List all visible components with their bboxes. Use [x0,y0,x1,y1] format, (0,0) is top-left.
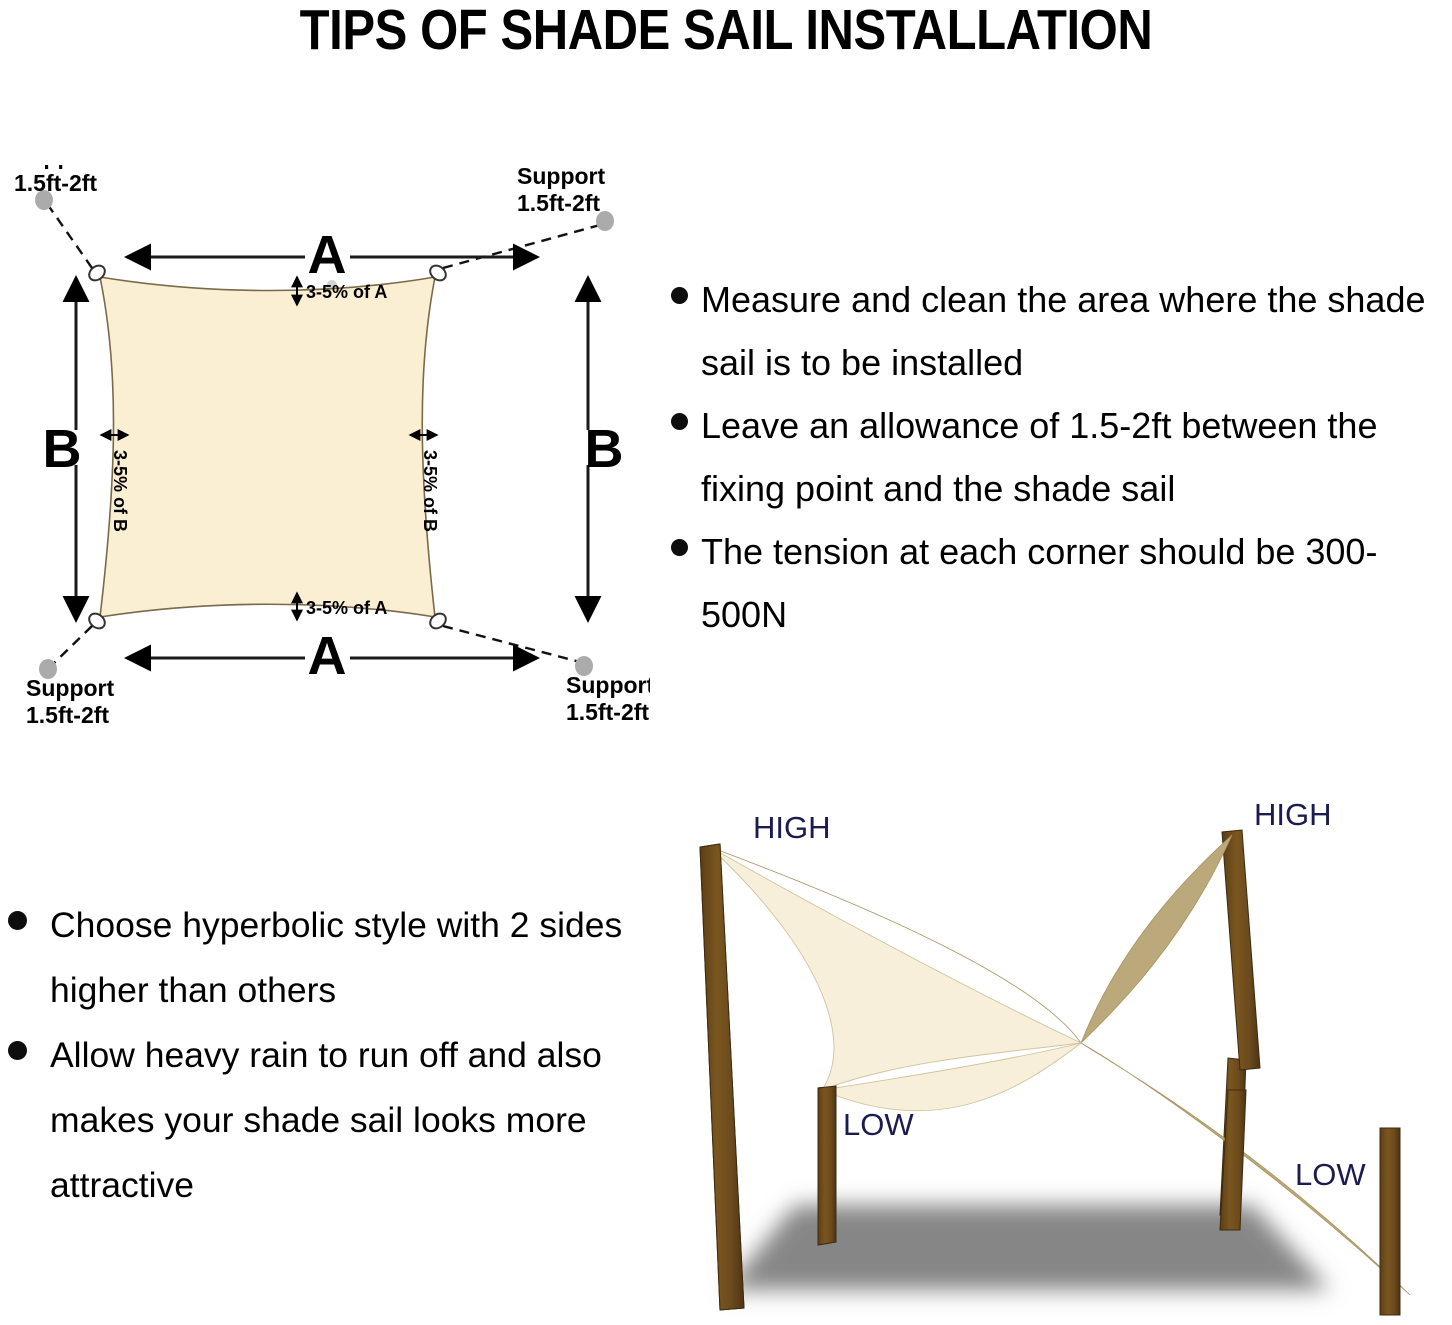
support-label-top-right-line1: Support [517,165,605,189]
support-label-bottom-left-line2: 1.5ft-2ft [26,702,109,725]
curve-note-top: 3-5% of A [306,282,387,302]
rectangular-sail-dimension-diagram: A A B B 3-5% of A 3-5% of A 3-5% of B 3-… [0,165,650,725]
hyperbolic-sail-illustration: HIGH HIGH LOW LOW [640,790,1452,1325]
tips-list-left: Choose hyperbolic style with 2 sides hig… [2,893,642,1218]
support-label-top-left-line1: Support [14,165,102,169]
support-label-top-right-line2: 1.5ft-2ft [517,190,600,216]
dimension-label-A-bottom: A [308,626,347,686]
label-high-left: HIGH [753,810,831,845]
label-high-right: HIGH [1254,797,1332,832]
tips-list-right: Measure and clean the area where the sha… [657,268,1452,646]
sail-shape [100,277,435,617]
curve-note-right: 3-5% of B [420,450,440,532]
support-label-bottom-right-line2: 1.5ft-2ft [566,699,649,725]
list-item: Leave an allowance of 1.5-2ft between th… [657,394,1452,520]
curve-note-left: 3-5% of B [110,450,130,532]
dimension-label-B-right: B [585,419,624,479]
page-title: TIPS OF SHADE SAIL INSTALLATION [102,0,1351,62]
support-label-top-left-line2: 1.5ft-2ft [14,170,97,196]
support-label-bottom-left-line1: Support [26,675,114,701]
label-low-left: LOW [843,1107,914,1142]
label-low-right: LOW [1295,1157,1366,1192]
list-item: Measure and clean the area where the sha… [657,268,1452,394]
list-item: Allow heavy rain to run off and also mak… [2,1023,642,1218]
curve-note-bottom: 3-5% of A [306,598,387,618]
list-item: The tension at each corner should be 300… [657,520,1452,646]
support-label-bottom-right-line1: Support [566,672,650,698]
dimension-label-A-top: A [308,225,347,285]
dimension-label-B-left: B [43,419,82,479]
list-item: Choose hyperbolic style with 2 sides hig… [2,893,642,1023]
